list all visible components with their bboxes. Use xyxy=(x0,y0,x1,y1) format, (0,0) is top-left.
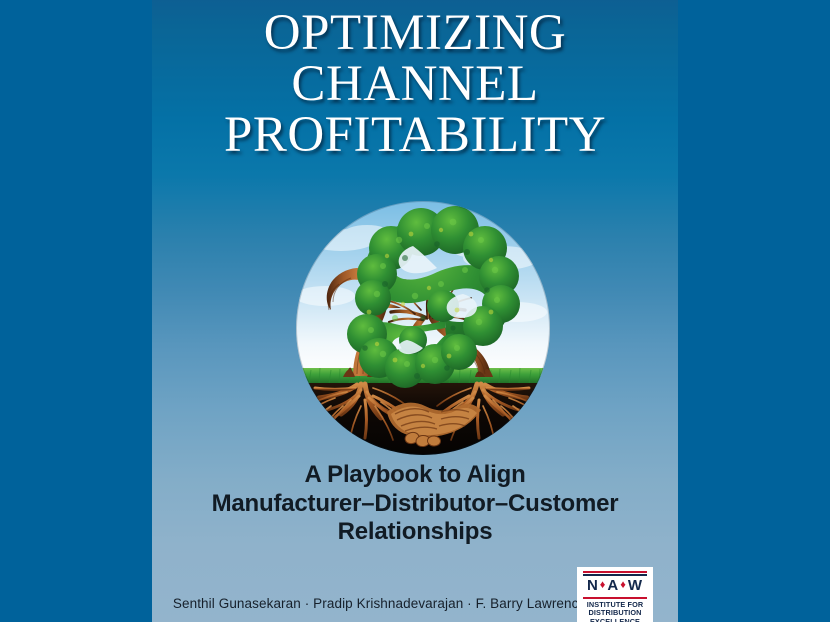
title-line-1: OPTIMIZING xyxy=(152,8,678,59)
logo-rule-red-top xyxy=(583,571,647,573)
subtitle-line-2: Manufacturer–Distributor–Customer xyxy=(152,490,678,519)
book-cover-image: OPTIMIZING CHANNEL PROFITABILITY xyxy=(0,0,830,622)
logo-letter-w: W xyxy=(628,577,643,594)
book-subtitle: A Playbook to Align Manufacturer–Distrib… xyxy=(152,461,678,547)
subtitle-line-1: A Playbook to Align xyxy=(152,461,678,490)
book-title: OPTIMIZING CHANNEL PROFITABILITY xyxy=(152,8,678,161)
money-tree-illustration xyxy=(295,200,551,456)
author-byline: Senthil Gunasekaran · Pradip Krishnadeva… xyxy=(152,596,607,611)
logo-letter-a: A xyxy=(607,577,619,594)
book-cover-panel: OPTIMIZING CHANNEL PROFITABILITY xyxy=(152,0,678,622)
logo-rule-navy-top xyxy=(583,574,647,576)
naw-publisher-logo: N♦A♦W INSTITUTE FOR DISTRIBUTION EXCELLE… xyxy=(577,567,653,622)
subtitle-line-3: Relationships xyxy=(152,518,678,547)
logo-rule-red-bottom xyxy=(583,597,647,599)
logo-letter-n: N xyxy=(587,577,599,594)
logo-diamond-icon-2: ♦ xyxy=(619,579,628,591)
right-background-band xyxy=(678,0,830,622)
title-line-2: CHANNEL xyxy=(152,59,678,110)
left-background-band xyxy=(0,0,152,622)
logo-diamond-icon-1: ♦ xyxy=(599,579,608,591)
title-line-3: PROFITABILITY xyxy=(152,110,678,161)
logo-wordmark: N♦A♦W xyxy=(581,578,649,595)
logo-tagline-3: EXCELLENCE xyxy=(581,618,649,622)
